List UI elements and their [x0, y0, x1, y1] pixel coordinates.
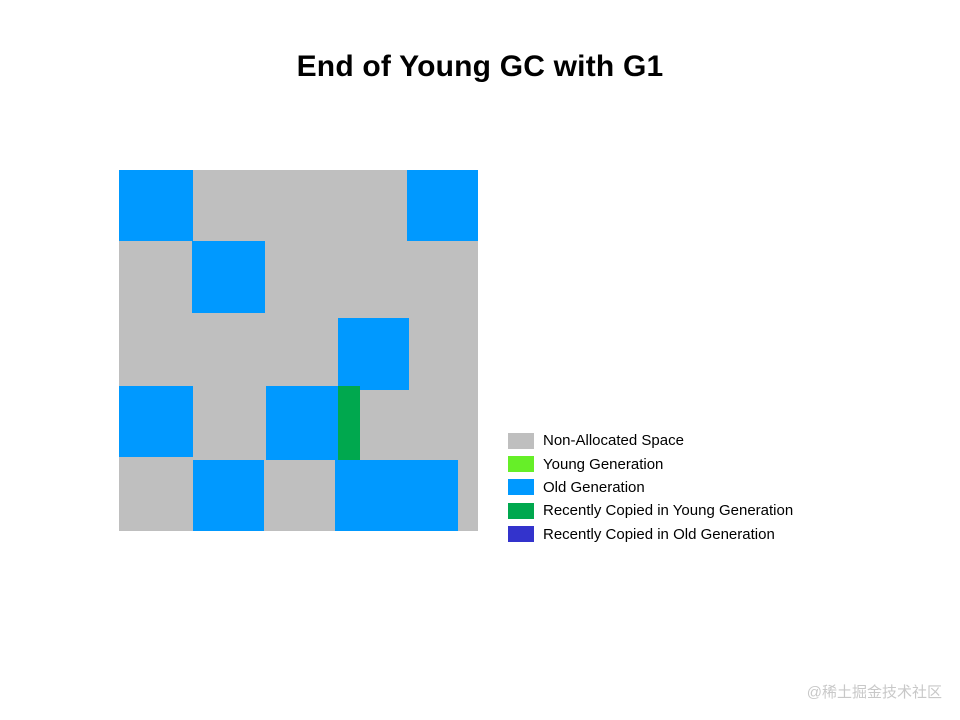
- legend-swatch-recently_copied_young: [508, 503, 534, 519]
- heap-region-grid: [119, 170, 478, 531]
- legend-swatch-old: [508, 479, 534, 495]
- watermark-text: @稀土掘金技术社区: [807, 681, 942, 702]
- chart-canvas: End of Young GC with G1 Non-Allocated Sp…: [0, 0, 960, 720]
- legend-item-young: Young Generation: [508, 452, 793, 475]
- legend-item-recently_copied_young: Recently Copied in Young Generation: [508, 499, 793, 522]
- old-region-r5c45: [335, 460, 458, 531]
- legend-item-old: Old Generation: [508, 476, 793, 499]
- legend-label-young: Young Generation: [543, 457, 663, 472]
- old-region-r2c2: [192, 241, 265, 313]
- old-region-r4c3: [266, 386, 338, 460]
- legend-swatch-young: [508, 456, 534, 472]
- old-region-r3c4: [338, 318, 409, 390]
- legend-swatch-recently_copied_old: [508, 526, 534, 542]
- old-region-r4c1: [119, 386, 193, 457]
- legend-item-non_allocated: Non-Allocated Space: [508, 429, 793, 452]
- legend-label-recently_copied_young: Recently Copied in Young Generation: [543, 503, 793, 518]
- chart-title: End of Young GC with G1: [0, 50, 960, 84]
- copied-young-r4c4: [338, 386, 360, 460]
- legend-label-old: Old Generation: [543, 480, 645, 495]
- legend-item-recently_copied_old: Recently Copied in Old Generation: [508, 523, 793, 546]
- chart-legend: Non-Allocated SpaceYoung GenerationOld G…: [508, 429, 793, 546]
- old-region-r1c5: [407, 170, 478, 241]
- legend-label-recently_copied_old: Recently Copied in Old Generation: [543, 527, 775, 542]
- legend-swatch-non_allocated: [508, 433, 534, 449]
- old-region-r1c1: [119, 170, 193, 241]
- old-region-r5c2: [193, 460, 264, 531]
- legend-label-non_allocated: Non-Allocated Space: [543, 433, 684, 448]
